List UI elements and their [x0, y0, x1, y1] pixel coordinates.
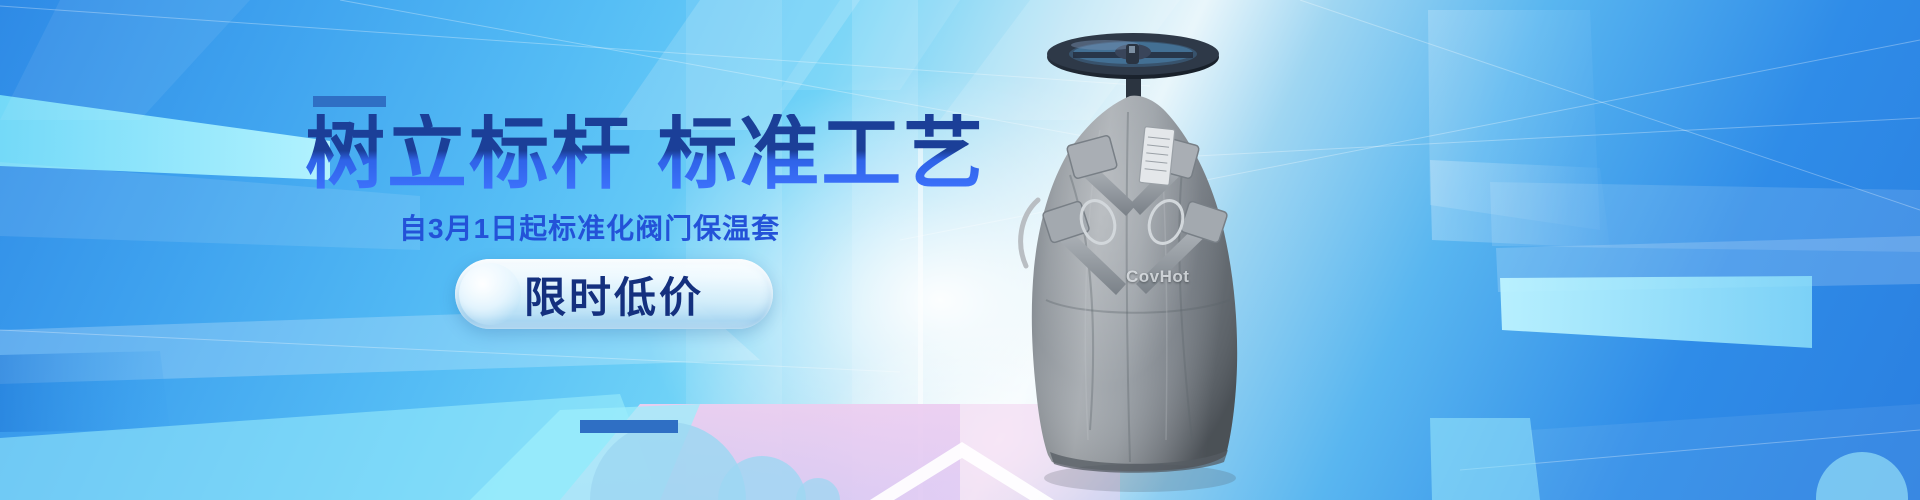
- jacket-shading: [1032, 96, 1237, 471]
- right-bottom-slab: [1430, 418, 1540, 500]
- right-cyan-band: [1500, 276, 1812, 348]
- product-image: CovHot: [930, 0, 1350, 500]
- product-shadow: [1044, 464, 1236, 492]
- subheadline: 自3月1日起标准化阀门保温套: [399, 215, 780, 243]
- accent-rule-bottom: [580, 420, 678, 433]
- valve-insulation-jacket-illustration: [930, 0, 1350, 500]
- jacket-id-tag: [1139, 127, 1175, 186]
- promo-banner: 树立标杆 标准工艺 自3月1日起标准化阀门保温套 限时低价: [0, 0, 1920, 500]
- banner-content: 树立标杆 标准工艺 自3月1日起标准化阀门保温套 限时低价: [0, 0, 960, 500]
- valve-handwheel: [1047, 33, 1219, 79]
- headline: 树立标杆 标准工艺: [305, 114, 985, 194]
- cta-button-label: 限时低价: [524, 264, 704, 325]
- cta-button[interactable]: 限时低价: [455, 259, 773, 329]
- accent-rule-top: [313, 96, 386, 107]
